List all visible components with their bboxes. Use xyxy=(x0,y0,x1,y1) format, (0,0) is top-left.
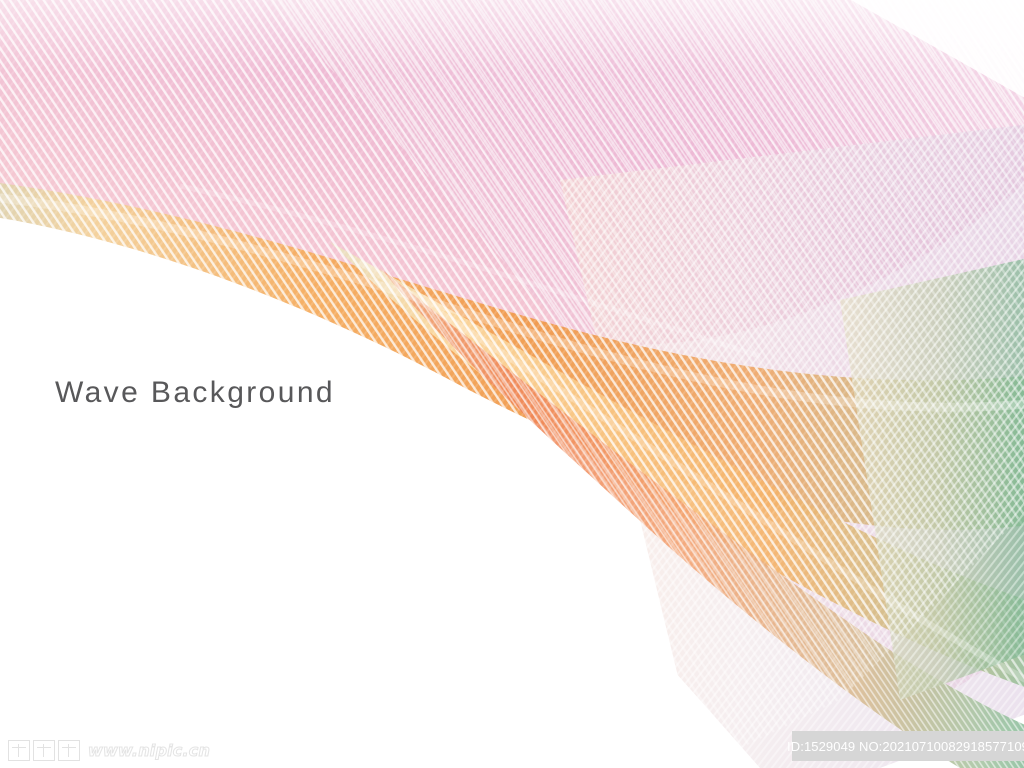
wave-background-canvas: Wave Background www.nipic.cn ID:1529049 … xyxy=(0,0,1024,768)
page-title: Wave Background xyxy=(55,371,335,415)
wave-top-fade xyxy=(0,0,1024,160)
image-id-bar: ID:1529049 NO:20210710082918577109 xyxy=(792,731,1024,761)
image-id-text: ID:1529049 NO:20210710082918577109 xyxy=(787,739,1024,754)
